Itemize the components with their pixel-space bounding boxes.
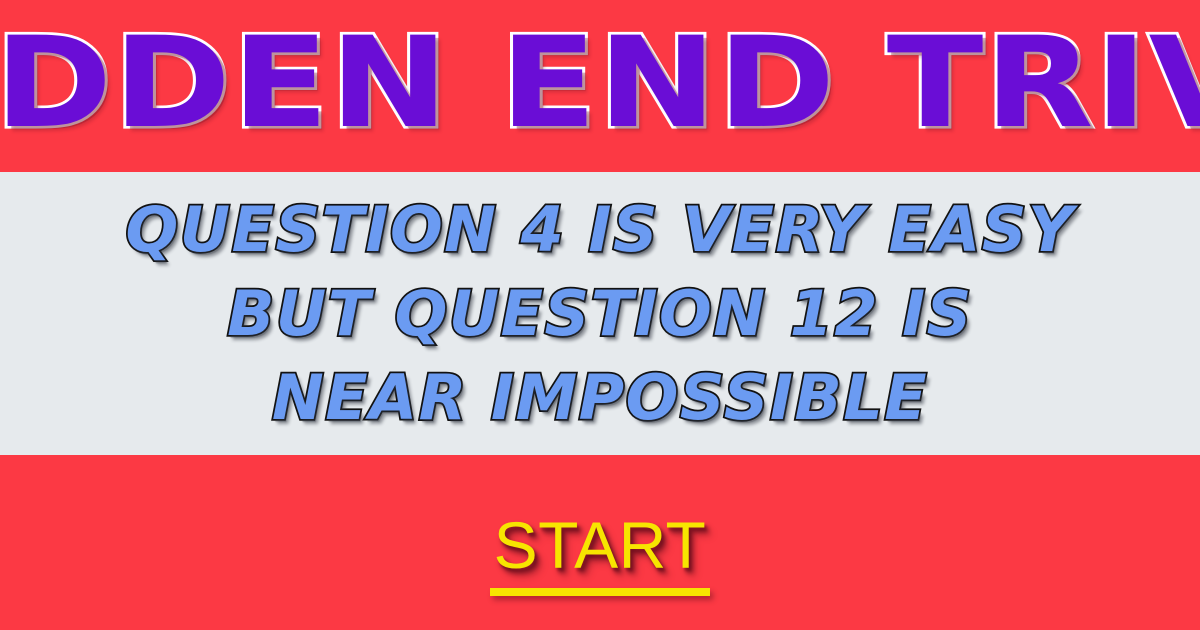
page-title: SUDDEN END TRIVIA — [0, 21, 1200, 151]
headline-text: QUESTION 4 IS VERY EASY BUT QUESTION 12 … — [126, 188, 1075, 440]
headline-line-2: BUT QUESTION 12 IS — [126, 272, 1075, 356]
headline-line-3: NEAR IMPOSSIBLE — [126, 356, 1075, 440]
action-band: START — [0, 455, 1200, 630]
title-band: SUDDEN END TRIVIA — [0, 0, 1200, 172]
trivia-splash-page: SUDDEN END TRIVIA QUESTION 4 IS VERY EAS… — [0, 0, 1200, 630]
headline-band: QUESTION 4 IS VERY EASY BUT QUESTION 12 … — [0, 172, 1200, 455]
start-button[interactable]: START — [490, 512, 711, 596]
headline-line-1: QUESTION 4 IS VERY EASY — [126, 188, 1075, 272]
